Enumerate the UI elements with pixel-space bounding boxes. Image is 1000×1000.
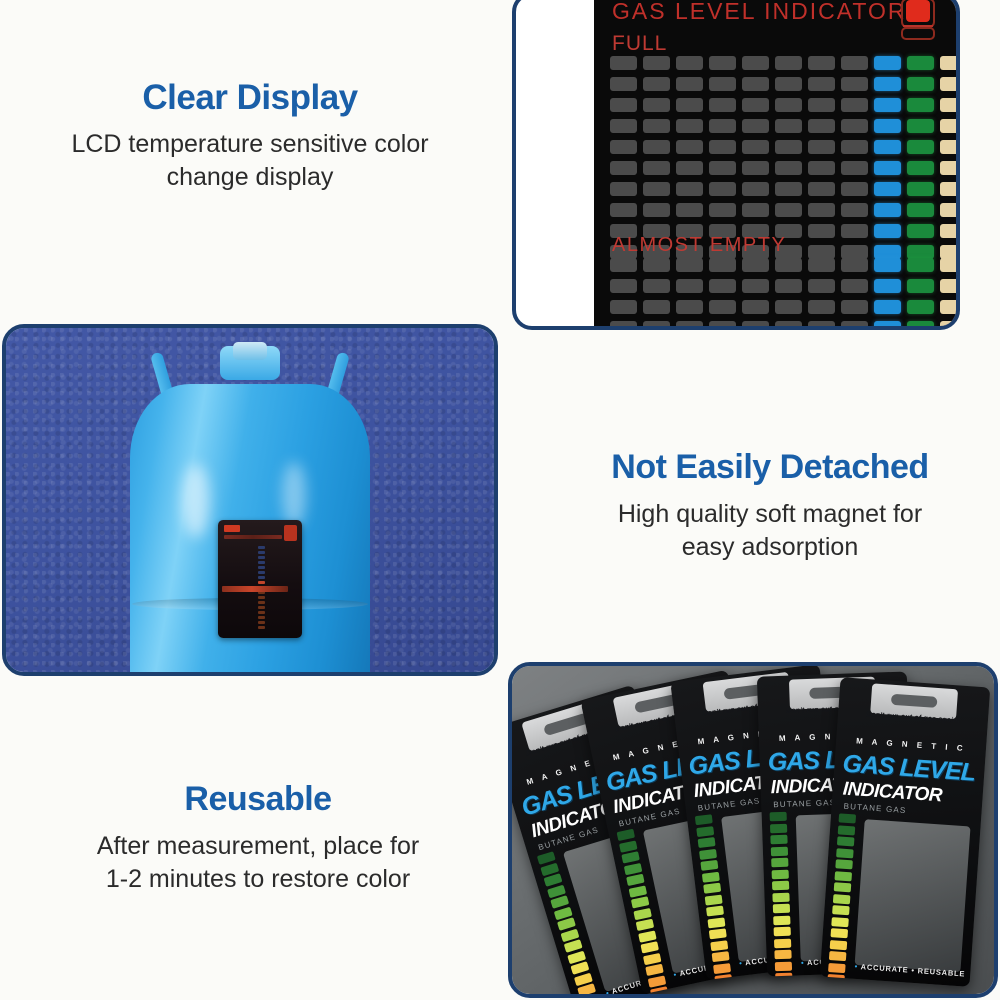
lcd-cell (841, 224, 868, 238)
lcd-display-panel: GAS LEVEL INDICATOR FULL ALMOST EMPTY (512, 0, 960, 330)
lcd-cell (940, 258, 960, 272)
lcd-cell (676, 279, 703, 293)
lcd-cell (610, 321, 637, 330)
lcd-cell (907, 98, 934, 112)
lcd-cell (775, 161, 802, 175)
lcd-cell (907, 258, 934, 272)
lcd-cell (742, 182, 769, 196)
lcd-cell (841, 161, 868, 175)
lcd-cell (775, 300, 802, 314)
lcd-cell (775, 119, 802, 133)
lcd-cell (841, 279, 868, 293)
lcd-screen: GAS LEVEL INDICATOR FULL ALMOST EMPTY (594, 0, 960, 330)
lcd-cell (808, 300, 835, 314)
lcd-cell (775, 140, 802, 154)
lcd-cell (676, 98, 703, 112)
lcd-cell (643, 258, 670, 272)
sticker-badge-icon (284, 525, 297, 541)
infographic-stage: Clear Display LCD temperature sensitive … (0, 0, 1000, 1000)
lcd-cell (808, 161, 835, 175)
lcd-cell (709, 258, 736, 272)
cylinder-highlight-right (282, 462, 306, 528)
lcd-cell (808, 279, 835, 293)
lcd-cell (709, 77, 736, 91)
lcd-cell (874, 245, 901, 259)
package-color-strip (770, 812, 795, 977)
lcd-cell (940, 119, 960, 133)
package-window (855, 819, 971, 972)
lcd-grid-lower (610, 258, 960, 330)
lcd-cell (775, 279, 802, 293)
feature-block-not-detached: Not Easily Detached High quality soft ma… (540, 448, 1000, 564)
lcd-cell (610, 203, 637, 217)
lcd-cell (709, 161, 736, 175)
lcd-cell (808, 203, 835, 217)
lcd-cell (940, 245, 960, 259)
cylinder-valve (233, 342, 267, 360)
lcd-almost-empty-label: ALMOST EMPTY (612, 234, 786, 257)
gas-cylinder (130, 346, 370, 676)
lcd-cell (742, 279, 769, 293)
reusable-heading: Reusable (38, 780, 478, 819)
lcd-cell (808, 77, 835, 91)
packaging-photo-panel: Don't run out of gas again!M A G N E T I… (508, 662, 998, 998)
lcd-cell (874, 300, 901, 314)
cylinder-photo-panel (2, 324, 498, 676)
lcd-cell (775, 98, 802, 112)
lcd-cell (676, 300, 703, 314)
lcd-cell (874, 98, 901, 112)
cylinder-body (130, 384, 370, 676)
lcd-cell (940, 98, 960, 112)
lcd-cell (874, 203, 901, 217)
clear-display-heading: Clear Display (20, 78, 480, 118)
lcd-cell (940, 140, 960, 154)
lcd-cell (874, 182, 901, 196)
lcd-cell (841, 119, 868, 133)
lcd-title: GAS LEVEL INDICATOR (612, 0, 906, 25)
feature-block-reusable: Reusable After measurement, place for 1-… (38, 780, 478, 896)
lcd-cell (610, 279, 637, 293)
lcd-cell (709, 203, 736, 217)
lcd-cell (676, 321, 703, 330)
lcd-cell (742, 258, 769, 272)
lcd-cell (775, 182, 802, 196)
lcd-cell (742, 119, 769, 133)
lcd-cell (808, 98, 835, 112)
lcd-cell (742, 161, 769, 175)
lcd-cell (610, 258, 637, 272)
lcd-cell (907, 77, 934, 91)
lcd-cell (676, 119, 703, 133)
clear-display-line-2: change display (20, 161, 480, 194)
product-package: Don't run out of gas again!M A G N E T I… (820, 677, 991, 987)
lcd-cell (742, 140, 769, 154)
feature-block-clear-display: Clear Display LCD temperature sensitive … (20, 78, 480, 194)
lcd-cell (874, 321, 901, 330)
lcd-cell (775, 321, 802, 330)
lcd-cell (874, 161, 901, 175)
lcd-cell (676, 77, 703, 91)
lcd-cell (610, 182, 637, 196)
lcd-cell (742, 300, 769, 314)
not-detached-heading: Not Easily Detached (540, 448, 1000, 487)
lcd-cell (643, 321, 670, 330)
lcd-cell (676, 203, 703, 217)
sticker-title-line (224, 535, 282, 539)
lcd-cell (742, 77, 769, 91)
lcd-cell (742, 203, 769, 217)
lcd-cell (742, 56, 769, 70)
lcd-cell (841, 321, 868, 330)
reusable-line-2: 1-2 minutes to restore color (38, 863, 478, 896)
lcd-cell (676, 140, 703, 154)
lcd-cell (874, 119, 901, 133)
lcd-cell (610, 119, 637, 133)
lcd-cell (841, 258, 868, 272)
package-subtitle: BUTANE GAS (773, 798, 836, 809)
lcd-cell (643, 140, 670, 154)
lcd-cell (643, 279, 670, 293)
lcd-cell (907, 321, 934, 330)
lcd-cell (874, 279, 901, 293)
lcd-cell (709, 140, 736, 154)
lcd-cell (643, 300, 670, 314)
lcd-cell (940, 77, 960, 91)
lcd-cell (874, 258, 901, 272)
lcd-cell (907, 182, 934, 196)
lcd-cell (940, 321, 960, 330)
lcd-cell (841, 300, 868, 314)
cylinder-highlight-left (182, 464, 210, 538)
lcd-cell (907, 224, 934, 238)
lcd-cell (940, 161, 960, 175)
reusable-description: After measurement, place for 1-2 minutes… (38, 830, 478, 896)
lcd-cell (775, 56, 802, 70)
not-detached-description: High quality soft magnet for easy adsorp… (540, 498, 1000, 564)
lcd-cell (808, 182, 835, 196)
lcd-cell (907, 161, 934, 175)
lcd-cell (808, 245, 835, 259)
lcd-full-label: FULL (612, 32, 667, 56)
lcd-cell (610, 98, 637, 112)
lcd-cell (676, 182, 703, 196)
lcd-cell (808, 224, 835, 238)
lcd-cell (907, 140, 934, 154)
lcd-cell (874, 224, 901, 238)
lcd-cell (940, 203, 960, 217)
lcd-cell (808, 258, 835, 272)
lcd-cell (940, 56, 960, 70)
lcd-cell (676, 161, 703, 175)
lcd-cell (709, 279, 736, 293)
lcd-cell (709, 300, 736, 314)
lcd-cell (709, 321, 736, 330)
lcd-grid-upper (610, 56, 960, 264)
lcd-cell (940, 224, 960, 238)
lcd-cell (643, 98, 670, 112)
lcd-cell (841, 203, 868, 217)
sticker-midline (222, 586, 288, 592)
lcd-cell (907, 300, 934, 314)
lcd-cell (808, 140, 835, 154)
lcd-cell (874, 56, 901, 70)
lcd-cell (742, 98, 769, 112)
lcd-cell (643, 56, 670, 70)
lcd-cell (808, 56, 835, 70)
lcd-cell (643, 182, 670, 196)
not-detached-line-1: High quality soft magnet for (540, 498, 1000, 531)
lcd-cell (610, 56, 637, 70)
clear-display-description: LCD temperature sensitive color change d… (20, 128, 480, 194)
lcd-cell (841, 182, 868, 196)
lcd-cell (775, 203, 802, 217)
lcd-cell (808, 119, 835, 133)
lcd-cell (841, 56, 868, 70)
lcd-cell (907, 245, 934, 259)
gas-bottle-icon (892, 0, 944, 42)
lcd-cell (643, 77, 670, 91)
lcd-cell (709, 119, 736, 133)
lcd-cell (643, 161, 670, 175)
lcd-cell (610, 140, 637, 154)
lcd-cell (610, 300, 637, 314)
lcd-cell (610, 77, 637, 91)
lcd-cell (907, 279, 934, 293)
lcd-cell (907, 56, 934, 70)
lcd-cell (907, 203, 934, 217)
sticker-logo-icon (224, 525, 240, 532)
lcd-cell (775, 258, 802, 272)
lcd-cell (742, 321, 769, 330)
lcd-cell (676, 258, 703, 272)
attached-indicator-sticker (218, 520, 302, 638)
lcd-cell (874, 140, 901, 154)
lcd-cell (940, 279, 960, 293)
lcd-cell (907, 119, 934, 133)
clear-display-line-1: LCD temperature sensitive color (20, 128, 480, 161)
lcd-cell (841, 245, 868, 259)
lcd-cell (610, 161, 637, 175)
lcd-cell (841, 98, 868, 112)
lcd-cell (940, 300, 960, 314)
lcd-cell (775, 77, 802, 91)
lcd-cell (709, 56, 736, 70)
lcd-cell (940, 182, 960, 196)
lcd-cell (643, 203, 670, 217)
lcd-cell (643, 119, 670, 133)
lcd-cell (841, 77, 868, 91)
lcd-cell (808, 321, 835, 330)
lcd-cell (709, 182, 736, 196)
lcd-cell (841, 140, 868, 154)
lcd-cell (709, 98, 736, 112)
lcd-cell (874, 77, 901, 91)
not-detached-line-2: easy adsorption (540, 531, 1000, 564)
lcd-cell (676, 56, 703, 70)
reusable-line-1: After measurement, place for (38, 830, 478, 863)
